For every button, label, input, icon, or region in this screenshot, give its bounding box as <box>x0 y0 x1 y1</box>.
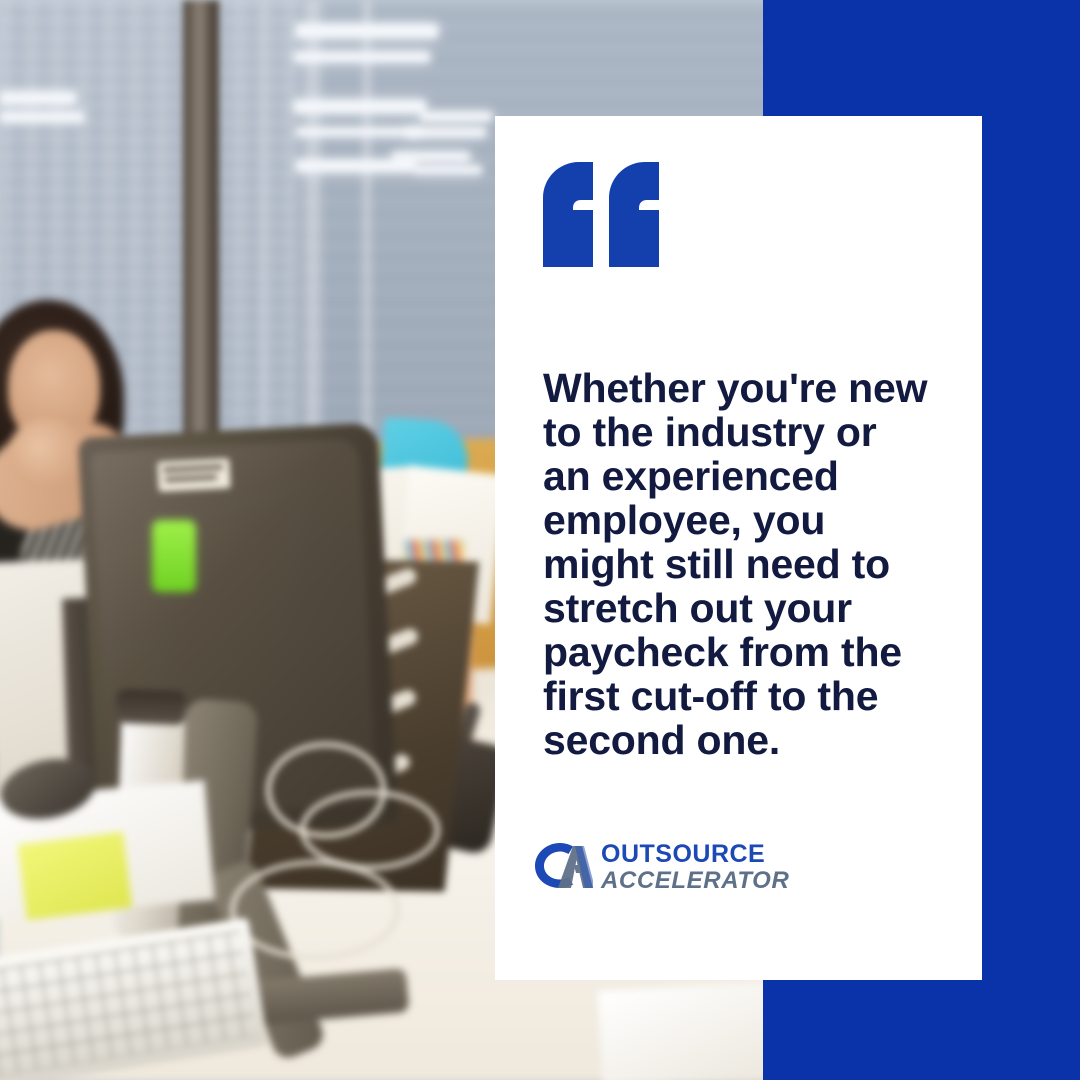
logo-line-accelerator: ACCELERATOR <box>601 869 789 893</box>
quotation-mark-icon <box>543 162 661 267</box>
cable-loop-2 <box>300 790 440 870</box>
ceiling-light-6 <box>420 112 492 121</box>
glass-streak-a <box>300 0 326 470</box>
person-hand <box>8 418 86 488</box>
travel-mug-lid <box>115 689 186 725</box>
ceiling-light-7 <box>406 128 486 137</box>
ca-monogram-icon <box>529 840 593 895</box>
quote-text: Whether you're new to the industry or an… <box>543 366 933 762</box>
ceiling-light-5 <box>296 160 416 172</box>
green-sticky-note <box>152 520 196 592</box>
glass-streak-b <box>360 0 374 470</box>
ceiling-light-9 <box>414 166 482 174</box>
ceiling-light-3 <box>294 100 426 113</box>
ceiling-light-8 <box>392 152 470 161</box>
ceiling-light-1 <box>296 24 438 38</box>
window-frame-highlight <box>258 0 268 470</box>
quote-card: Whether you're new to the industry or an… <box>495 116 982 980</box>
window-mullion <box>183 0 219 470</box>
ceiling-light-11 <box>0 112 84 122</box>
poster-canvas: Whether you're new to the industry or an… <box>0 0 1080 1080</box>
cable-loop-3 <box>230 860 400 960</box>
ceiling-light-4 <box>296 128 422 136</box>
ceiling-light-10 <box>0 92 76 104</box>
outsource-accelerator-logo[interactable]: OUTSOURCE ACCELERATOR <box>529 840 789 895</box>
yellow-sticky-pad <box>18 832 132 920</box>
ceiling-light-2 <box>294 52 430 62</box>
logo-line-outsource: OUTSOURCE <box>601 842 789 867</box>
logo-wordmark: OUTSOURCE ACCELERATOR <box>601 842 789 893</box>
